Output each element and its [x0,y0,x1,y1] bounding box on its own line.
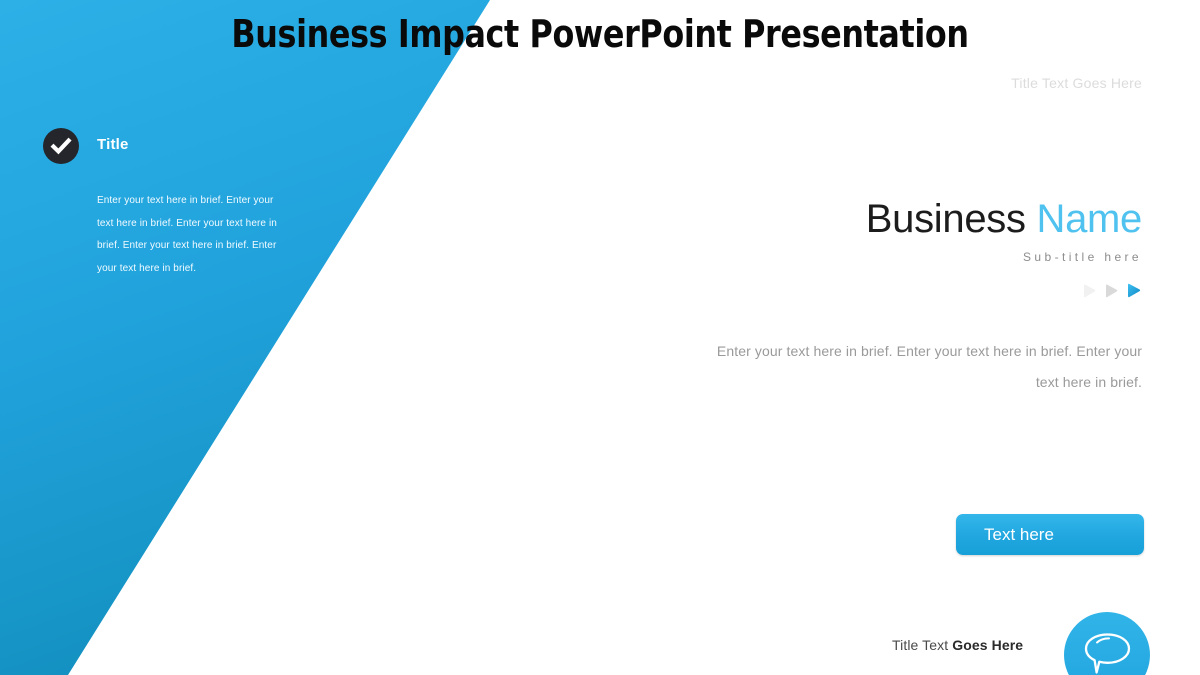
sub-title: Sub-title here [712,250,1142,264]
sidebar-body-text: Enter your text here in brief. Enter you… [97,190,279,280]
top-right-caption: Title Text Goes Here [1011,75,1142,91]
footer-caption-bold: Goes Here [952,637,1023,653]
business-name-accent: Name [1037,197,1143,241]
play-arrow-group [712,284,1142,302]
business-name-heading: Business Name [712,196,1142,242]
sidebar-title: Title [97,136,129,153]
check-icon [43,128,79,164]
sidebar-panel: Title Enter your text here in brief. Ent… [43,128,283,280]
footer-caption: Title Text Goes Here [892,637,1023,653]
text-here-button[interactable]: Text here [956,514,1144,555]
main-paragraph: Enter your text here in brief. Enter you… [712,336,1142,398]
main-content-column: Business Name Sub-title here [712,196,1142,398]
speech-bubble-icon [1083,632,1132,675]
sidebar-header: Title [43,128,283,166]
footer-caption-regular: Title Text [892,637,952,653]
chat-button[interactable] [1064,612,1150,675]
presentation-slide: Business Impact PowerPoint Presentation … [0,0,1200,675]
play-arrow-active[interactable] [1126,282,1142,304]
diagonal-accent-shape [0,0,500,675]
business-name-primary: Business [866,197,1026,241]
play-arrow-inactive-2[interactable] [1104,283,1119,304]
play-arrow-inactive-1[interactable] [1082,283,1097,304]
page-title: Business Impact PowerPoint Presentation [42,12,1158,56]
